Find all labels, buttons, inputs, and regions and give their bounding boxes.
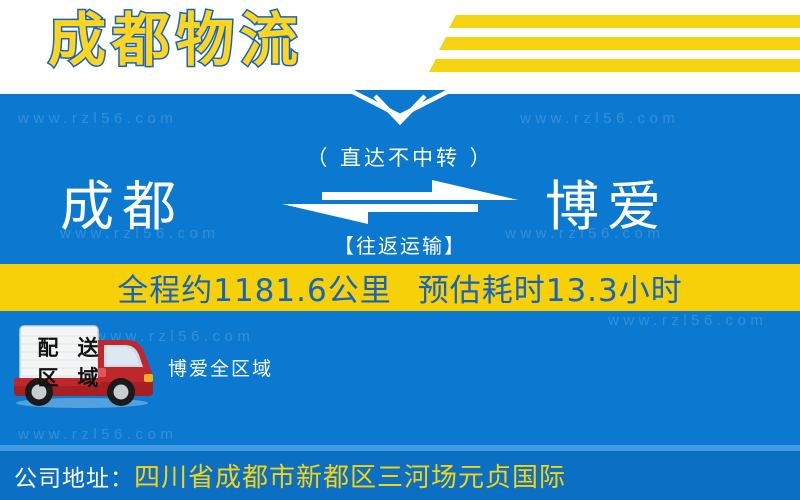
stripe-2 bbox=[439, 37, 800, 50]
watermark: www.rzl56.com bbox=[520, 110, 679, 127]
page-title: 成都物流 bbox=[48, 4, 304, 76]
metrics-band: 全程约1181.6公里 预估耗时13.3小时 bbox=[0, 264, 800, 311]
duration-text: 预估耗时13.3小时 bbox=[418, 265, 683, 310]
poster-root: 成都物流 www.rzl56.com www.rzl56.com www.rzl… bbox=[0, 0, 800, 500]
delivery-truck-icon bbox=[8, 322, 156, 410]
stripe-3 bbox=[429, 59, 800, 72]
footer-bar: 公司地址： 四川省成都市新都区三河场元贞国际 bbox=[0, 451, 800, 500]
company-address: 四川省成都市新都区三河场元贞国际 bbox=[134, 457, 566, 494]
roundtrip-note: 【往返运输】 bbox=[0, 230, 800, 259]
coverage-text: 博爱全区域 bbox=[168, 354, 273, 381]
bidirectional-arrow-icon bbox=[282, 178, 518, 226]
address-label: 公司地址： bbox=[14, 459, 134, 493]
decorative-stripes bbox=[415, 12, 800, 80]
double-chevron-down-icon bbox=[345, 90, 455, 126]
stripe-1 bbox=[449, 15, 800, 28]
top-rule-right bbox=[448, 90, 800, 94]
watermark: www.rzl56.com bbox=[18, 110, 177, 127]
header-banner: 成都物流 bbox=[0, 0, 800, 90]
direct-route-note: （ 直达不中转 ） bbox=[0, 142, 800, 172]
main-panel: www.rzl56.com www.rzl56.com www.rzl56.co… bbox=[0, 90, 800, 445]
distance-text: 全程约1181.6公里 bbox=[117, 265, 391, 310]
delivery-row: 配 送 区 域 博爱全区域 bbox=[0, 322, 800, 412]
watermark: www.rzl56.com bbox=[18, 426, 177, 443]
top-rule-left bbox=[0, 90, 352, 94]
